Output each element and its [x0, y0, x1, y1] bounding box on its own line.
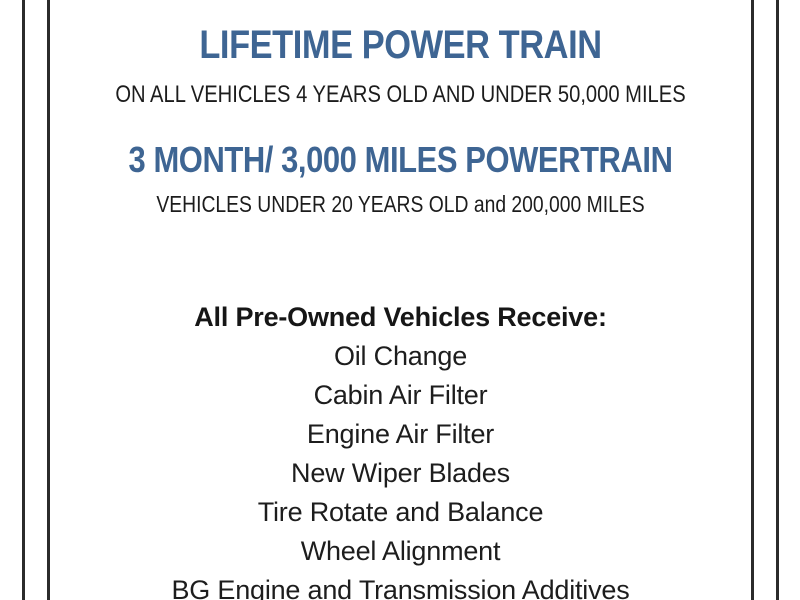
service-item: Cabin Air Filter — [50, 376, 751, 415]
frame-rule-left-outer — [22, 0, 25, 600]
service-item: New Wiper Blades — [50, 454, 751, 493]
service-item: BG Engine and Transmission Additives — [50, 571, 751, 600]
warranty-poster: LIFETIME POWER TRAIN ON ALL VEHICLES 4 Y… — [0, 0, 800, 600]
service-item: Engine Air Filter — [50, 415, 751, 454]
service-item: Tire Rotate and Balance — [50, 493, 751, 532]
three-month-powertrain-subhead: VEHICLES UNDER 20 YEARS OLD and 200,000 … — [106, 193, 695, 216]
three-month-powertrain-headline: 3 MONTH/ 3,000 MILES POWERTRAIN — [99, 142, 702, 178]
frame-rule-right-inner — [751, 0, 754, 600]
services-list-title: All Pre-Owned Vehicles Receive: — [50, 298, 751, 337]
poster-content: LIFETIME POWER TRAIN ON ALL VEHICLES 4 Y… — [50, 0, 751, 600]
frame-rule-right-outer — [776, 0, 779, 600]
lifetime-powertrain-subhead: ON ALL VEHICLES 4 YEARS OLD AND UNDER 50… — [106, 83, 695, 107]
services-list: All Pre-Owned Vehicles Receive: Oil Chan… — [50, 298, 751, 600]
service-item: Wheel Alignment — [50, 532, 751, 571]
service-item: Oil Change — [50, 337, 751, 376]
lifetime-powertrain-headline: LIFETIME POWER TRAIN — [99, 25, 702, 65]
